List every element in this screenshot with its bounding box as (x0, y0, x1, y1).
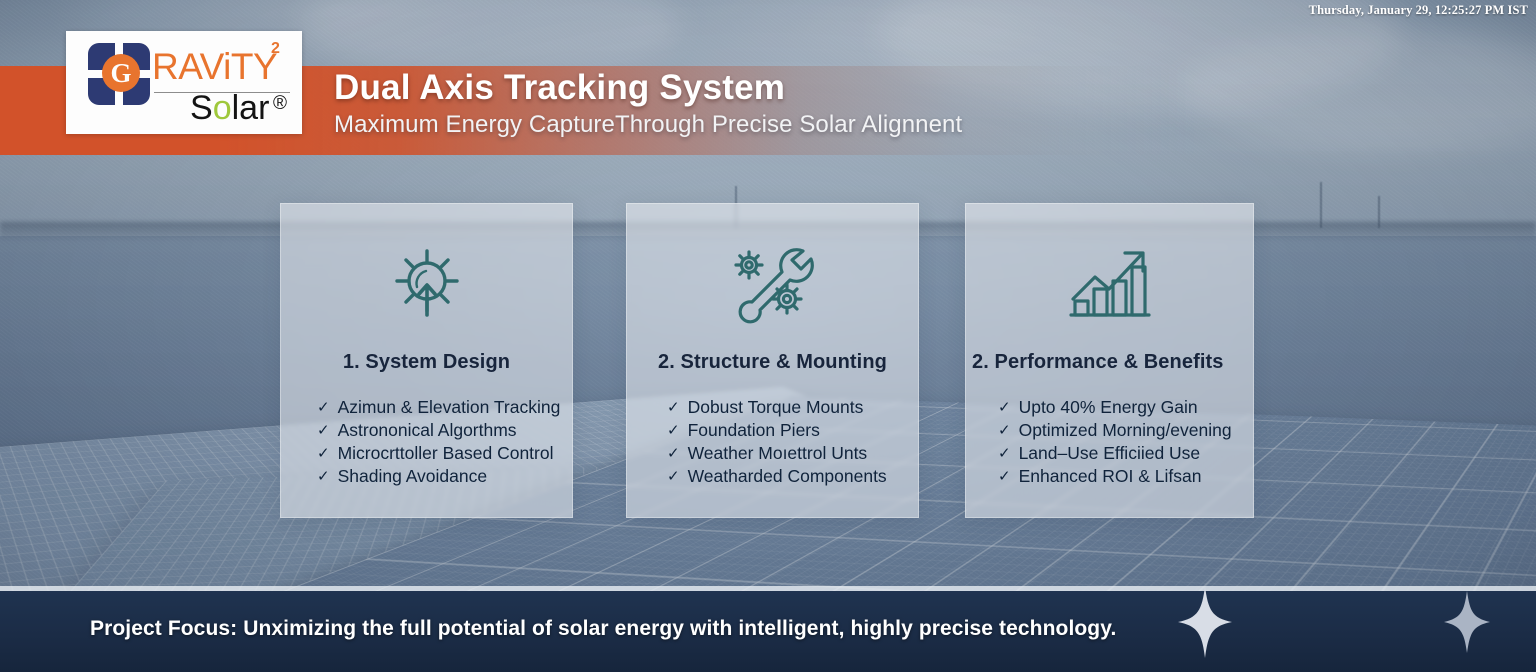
list-item: ✓Astrononical Algorthms (317, 419, 572, 442)
wrench-gears-icon (627, 240, 918, 326)
card-bullet-list: ✓Dobust Torque Mounts ✓Foundation Piers … (627, 396, 918, 488)
logo-badge-icon: G (88, 43, 150, 105)
list-item: ✓Dobust Torque Mounts (667, 396, 918, 419)
list-item-label: Weather Moıettrol Unts (688, 442, 868, 465)
check-icon: ✓ (317, 465, 330, 488)
logo-superscript-two: 2 (271, 40, 280, 58)
list-item-label: Upto 40% Energy Gain (1019, 396, 1198, 419)
slide-canvas: Thursday, January 29, 12:25:27 PM IST Du… (0, 0, 1536, 672)
logo-wordmark-gravity: RAViTY (152, 48, 277, 85)
check-icon: ✓ (998, 442, 1011, 465)
logo-letter-g: G (102, 54, 140, 92)
list-item-label: Microcrttoller Based Control (338, 442, 554, 465)
logo-wordmark-solar: Solar (190, 91, 269, 125)
list-item: ✓Optimized Morning/evening (998, 419, 1253, 442)
card-title: 1. System Design (281, 351, 572, 374)
list-item-label: Shading Avoidance (338, 465, 488, 488)
list-item-label: Optimized Morning/evening (1019, 419, 1232, 442)
check-icon: ✓ (998, 465, 1011, 488)
page-subtitle: Maximum Energy CaptureThrough Precise So… (334, 111, 1294, 139)
sparkle-icon (1444, 591, 1490, 653)
list-item: ✓Weather Moıettrol Unts (667, 442, 918, 465)
card-title: 2. Performance & Benefits (966, 351, 1253, 374)
card-bullet-list: ✓Upto 40% Energy Gain ✓Optimized Morning… (966, 396, 1253, 488)
sparkle-icon (1178, 586, 1232, 658)
list-item: ✓Enhanced ROI & Lifsan (998, 465, 1253, 488)
logo-registered-mark: ® (273, 93, 287, 115)
list-item: ✓Land–Use Efficiied Use (998, 442, 1253, 465)
check-icon: ✓ (667, 465, 680, 488)
list-item-label: Foundation Piers (688, 419, 820, 442)
check-icon: ✓ (667, 396, 680, 419)
growth-chart-icon (966, 240, 1253, 326)
company-logo[interactable]: G RAViTY 2 Solar ® (66, 31, 302, 134)
list-item: ✓Upto 40% Energy Gain (998, 396, 1253, 419)
card-performance-benefits[interactable]: 2. Performance & Benefits ✓Upto 40% Ener… (965, 203, 1254, 518)
check-icon: ✓ (317, 419, 330, 442)
list-item-label: Azimun & Elevation Tracking (338, 396, 561, 419)
check-icon: ✓ (317, 396, 330, 419)
card-bullet-list: ✓Azimun & Elevation Tracking ✓Astrononic… (281, 396, 572, 488)
list-item: ✓Foundation Piers (667, 419, 918, 442)
page-title: Dual Axis Tracking System (334, 68, 1294, 108)
list-item: ✓Microcrttoller Based Control (317, 442, 572, 465)
footer-band: Project Focus: Unximizing the full poten… (0, 591, 1536, 672)
logo-solar-s: S (190, 89, 213, 127)
card-title: 2. Structure & Mounting (627, 351, 918, 374)
list-item-label: Weatharded Components (688, 465, 887, 488)
list-item-label: Land–Use Efficiied Use (1019, 442, 1201, 465)
check-icon: ✓ (667, 442, 680, 465)
check-icon: ✓ (317, 442, 330, 465)
list-item-label: Astrononical Algorthms (338, 419, 517, 442)
check-icon: ✓ (667, 419, 680, 442)
header-text-group: Dual Axis Tracking System Maximum Energy… (334, 68, 1294, 139)
logo-solar-o: o (213, 89, 232, 127)
sun-tracking-icon (281, 240, 572, 326)
list-item-label: Enhanced ROI & Lifsan (1019, 465, 1202, 488)
card-system-design[interactable]: 1. System Design ✓Azimun & Elevation Tra… (280, 203, 573, 518)
project-focus-text: Project Focus: Unximizing the full poten… (90, 617, 1116, 641)
list-item: ✓Shading Avoidance (317, 465, 572, 488)
check-icon: ✓ (998, 419, 1011, 442)
list-item-label: Dobust Torque Mounts (688, 396, 864, 419)
list-item: ✓Azimun & Elevation Tracking (317, 396, 572, 419)
card-structure-mounting[interactable]: 2. Structure & Mounting ✓Dobust Torque M… (626, 203, 919, 518)
logo-solar-rest: lar (232, 89, 270, 127)
check-icon: ✓ (998, 396, 1011, 419)
timestamp-label: Thursday, January 29, 12:25:27 PM IST (1309, 3, 1528, 18)
list-item: ✓Weatharded Components (667, 465, 918, 488)
